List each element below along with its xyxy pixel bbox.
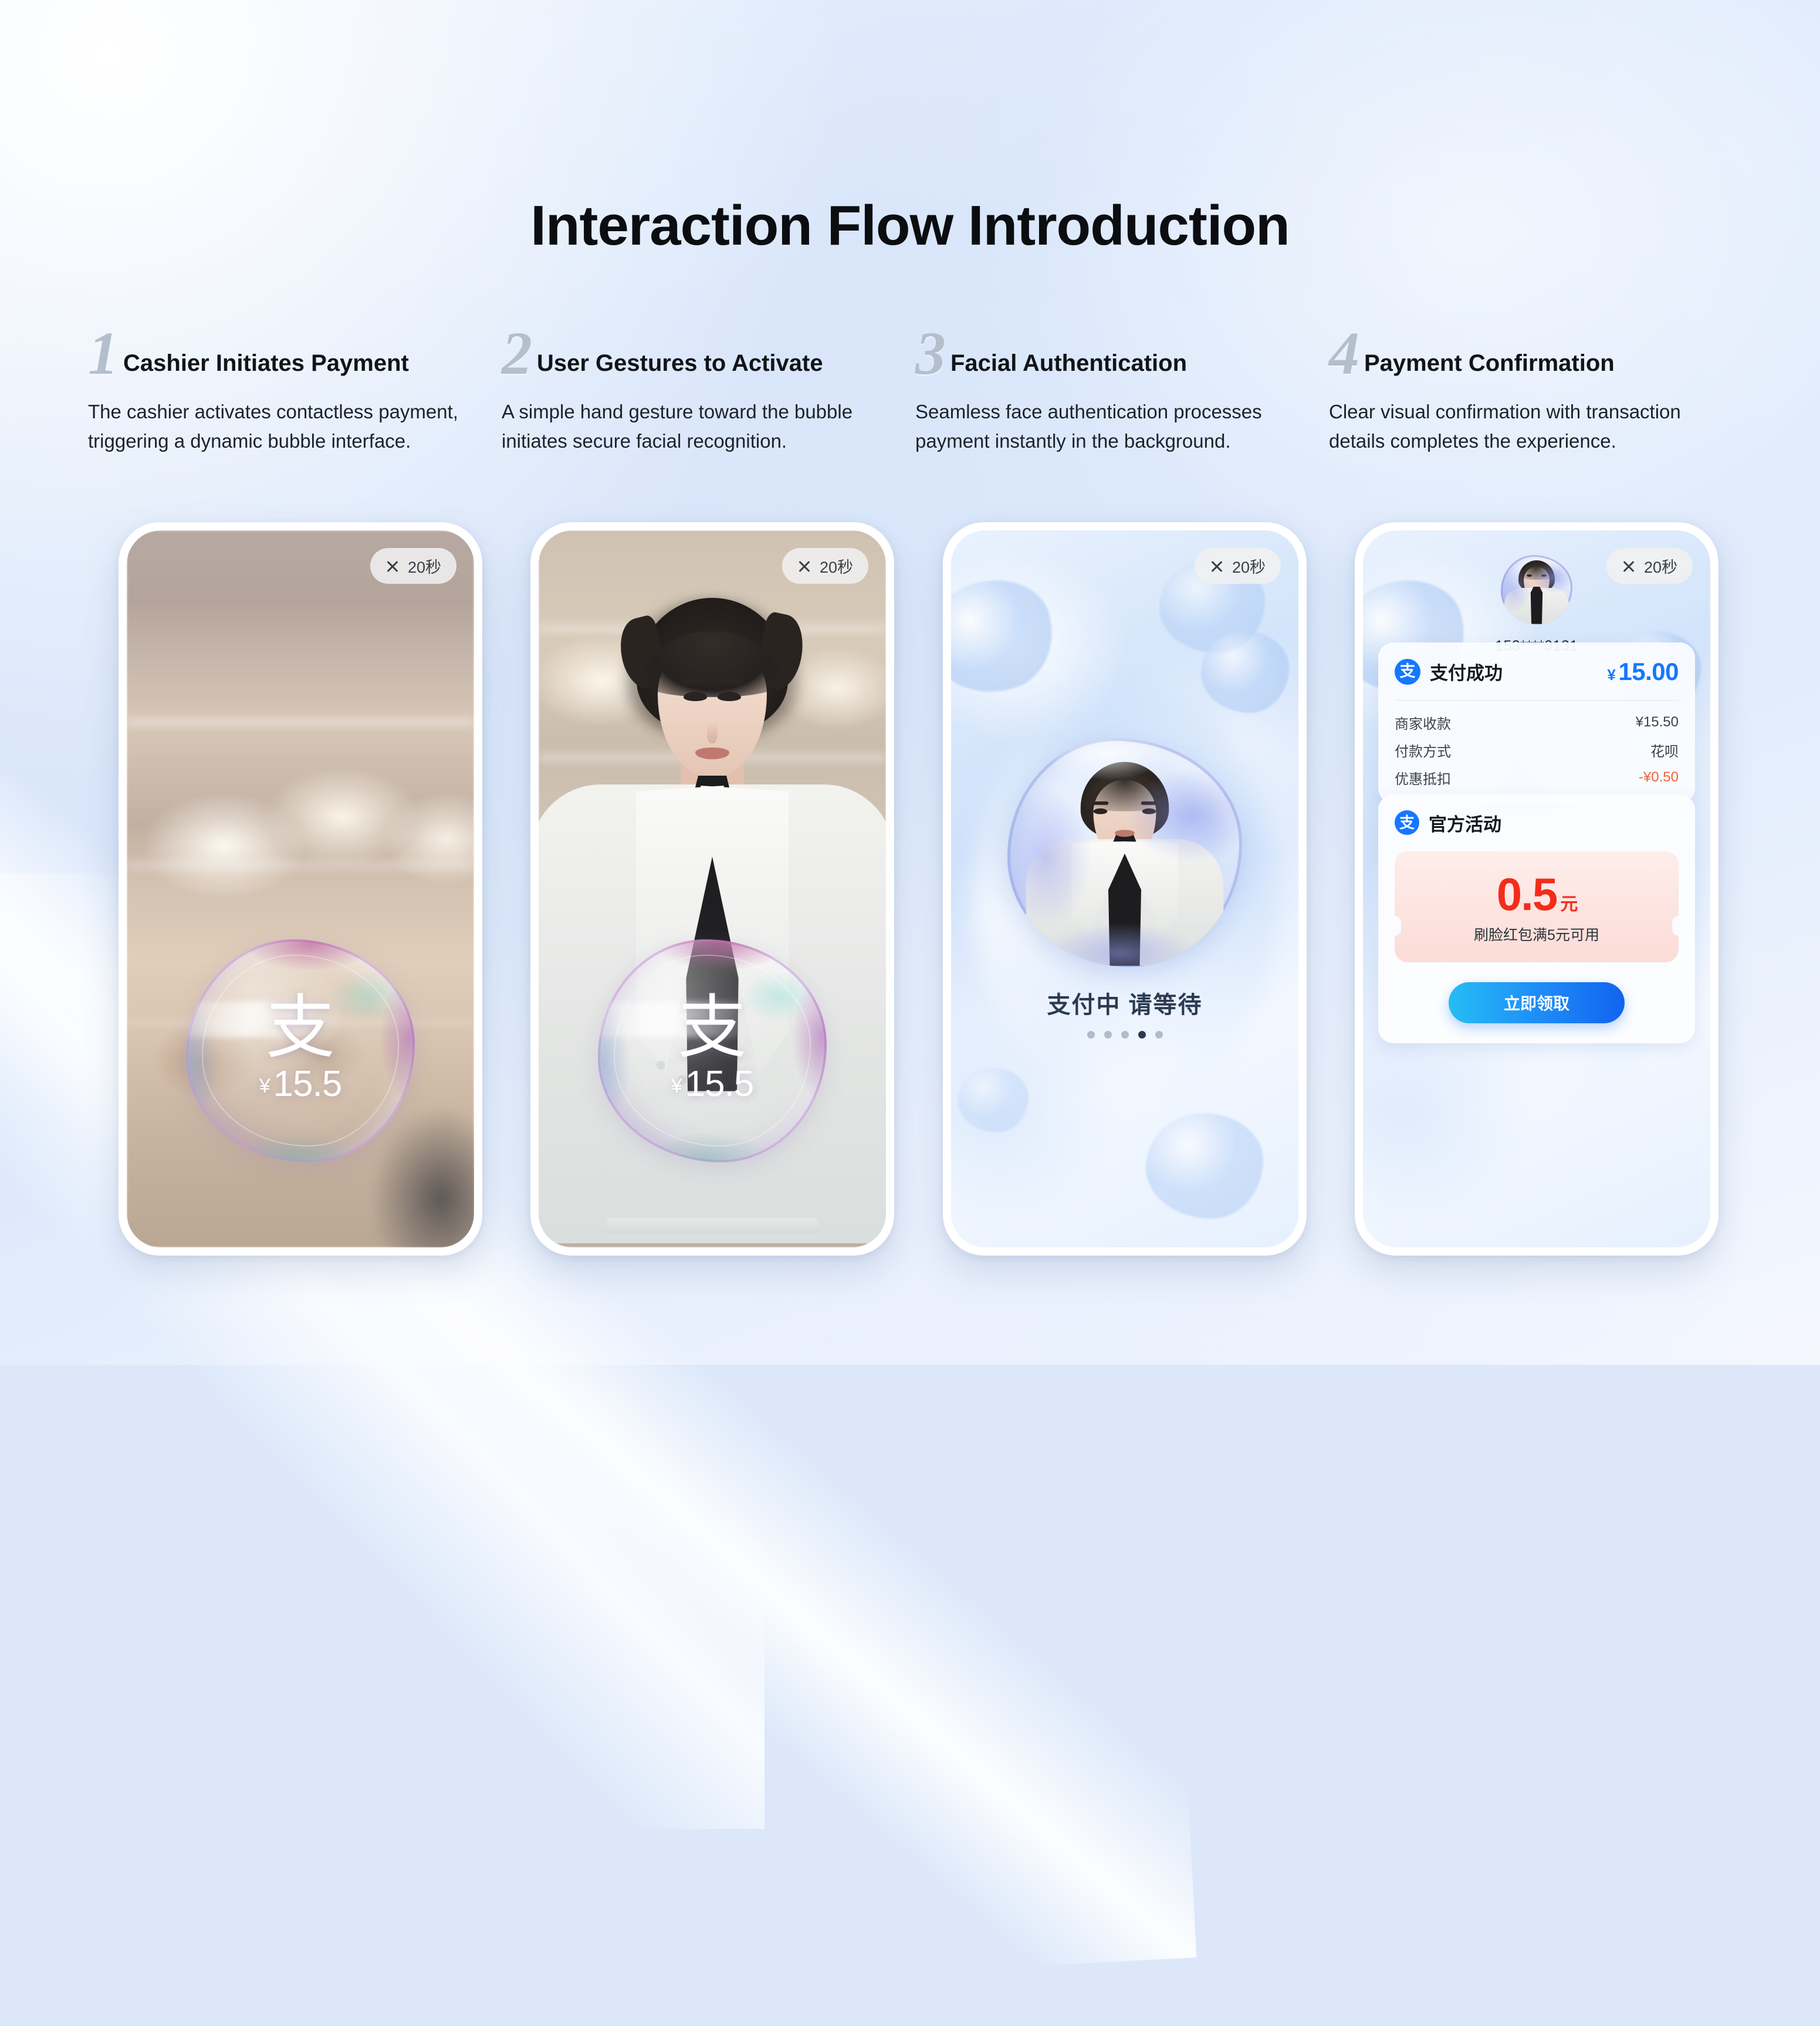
coupon-condition: 刷脸红包满5元可用: [1395, 924, 1679, 945]
alipay-logo-icon: 支: [1395, 810, 1419, 835]
coupon-ticket[interactable]: 0.5元 刷脸红包满5元可用: [1395, 851, 1679, 963]
close-x-icon[interactable]: [385, 559, 400, 573]
alipay-logo-icon: 支: [1395, 659, 1420, 685]
detail-label: 商家收款: [1395, 712, 1451, 733]
loading-dot-active: [1138, 1031, 1146, 1039]
page-title: Interaction Flow Introduction: [0, 194, 1820, 258]
phone-1-screen: 20秒 支 ¥15.5: [127, 530, 474, 1247]
store-shelf-highlight: [127, 717, 474, 726]
step-3-title: Facial Authentication: [950, 351, 1187, 377]
alipay-glyph-icon: 支: [678, 996, 747, 1060]
step-2-header: 2 User Gestures to Activate: [502, 330, 888, 377]
bubble-content: 支 ¥15.5: [598, 939, 827, 1162]
scanned-face: [1009, 739, 1241, 966]
step-4: 4 Payment Confirmation Clear visual conf…: [1329, 330, 1743, 456]
step-3-header: 3 Facial Authentication: [915, 330, 1302, 377]
close-x-icon[interactable]: [1622, 559, 1636, 573]
promotion-card: 支 官方活动 0.5元 刷脸红包满5元可用 立即领取: [1378, 794, 1695, 1044]
step-2-number: 2: [502, 330, 532, 377]
step-1-header: 1 Cashier Initiates Payment: [88, 330, 475, 377]
detail-value: 花呗: [1650, 740, 1679, 760]
promotion-card-header: 支 官方活动: [1395, 810, 1679, 836]
detail-row: 商家收款 ¥15.50: [1395, 712, 1679, 733]
phone-4-screen: 20秒 153****0131 支: [1363, 530, 1710, 1247]
store-shelf-highlight: [127, 860, 474, 871]
loading-dot: [1121, 1031, 1129, 1039]
amount-value: 15.5: [685, 1064, 754, 1104]
detail-row: 付款方式 花呗: [1395, 740, 1679, 760]
payment-status-title: 支付成功: [1430, 658, 1503, 685]
timer-label: 20秒: [408, 554, 441, 577]
loading-dots: [951, 1031, 1298, 1039]
payment-amount: ¥15.00: [1607, 658, 1679, 686]
coupon-amount-value: 0.5: [1497, 868, 1557, 920]
step-3-description: Seamless face authentication processes p…: [915, 397, 1291, 456]
phone-mockup-1: 20秒 支 ¥15.5: [119, 522, 482, 1256]
step-1-description: The cashier activates contactless paymen…: [88, 397, 464, 456]
claim-coupon-button[interactable]: 立即领取: [1449, 982, 1625, 1023]
amount-value: 15.00: [1618, 658, 1679, 685]
alipay-glyph-icon: 支: [266, 996, 335, 1060]
decorative-bubble: [1201, 631, 1289, 713]
detail-label: 优惠抵扣: [1395, 767, 1451, 788]
step-2: 2 User Gestures to Activate A simple han…: [502, 330, 915, 456]
amount-value: 15.5: [273, 1064, 342, 1104]
currency-symbol: ¥: [671, 1075, 682, 1097]
coupon-amount-unit: 元: [1560, 895, 1577, 914]
phone-3-screen: 20秒 支付中 请等待: [951, 530, 1298, 1247]
timer-label: 20秒: [1644, 554, 1677, 577]
timer-badge[interactable]: 20秒: [1195, 548, 1281, 584]
timer-badge[interactable]: 20秒: [370, 548, 456, 584]
detail-label: 付款方式: [1395, 740, 1451, 760]
detail-value-discount: -¥0.50: [1639, 769, 1679, 786]
timer-badge[interactable]: 20秒: [1606, 548, 1693, 584]
phone-mockups-row: 20秒 支 ¥15.5: [0, 522, 1820, 1250]
loading-dot: [1155, 1031, 1163, 1039]
step-4-title: Payment Confirmation: [1364, 351, 1615, 377]
step-1: 1 Cashier Initiates Payment The cashier …: [88, 330, 502, 456]
payment-bubble[interactable]: 支 ¥15.5: [186, 939, 415, 1162]
step-4-number: 4: [1329, 330, 1359, 377]
step-1-title: Cashier Initiates Payment: [123, 351, 409, 377]
loading-dot: [1104, 1031, 1112, 1039]
payment-success-card: 支 支付成功 ¥15.00 商家收款 ¥15.50 付款方式 花呗: [1378, 642, 1695, 803]
phone-mockup-2: 20秒 支 ¥15.5: [530, 522, 894, 1256]
currency-symbol: ¥: [259, 1075, 270, 1097]
step-1-number: 1: [88, 330, 119, 377]
person-coat-belt: [607, 1218, 818, 1233]
loading-dot: [1087, 1031, 1095, 1039]
currency-symbol: ¥: [1607, 666, 1615, 684]
promotion-title: 官方活动: [1429, 810, 1501, 836]
face-scan-bubble: [1007, 738, 1242, 967]
step-2-title: User Gestures to Activate: [537, 351, 823, 377]
person-eye-left: [684, 692, 707, 701]
step-3: 3 Facial Authentication Seamless face au…: [915, 330, 1329, 456]
card-divider: [1395, 700, 1679, 701]
coupon-amount: 0.5元: [1395, 874, 1679, 916]
timer-label: 20秒: [820, 554, 853, 577]
person-eye-right: [718, 692, 741, 701]
person-eyebrow-right: [1141, 802, 1158, 806]
detail-value: ¥15.50: [1636, 714, 1679, 730]
payment-status-text: 支付中 请等待: [951, 986, 1298, 1020]
avatar-bubble-film: [1501, 555, 1572, 624]
steps-row: 1 Cashier Initiates Payment The cashier …: [88, 330, 1743, 456]
bubble-content: 支 ¥15.5: [186, 939, 415, 1162]
payment-bubble[interactable]: 支 ¥15.5: [598, 939, 827, 1162]
phone-2-screen: 20秒 支 ¥15.5: [539, 530, 886, 1247]
avatar: [1501, 555, 1572, 624]
close-x-icon[interactable]: [1210, 559, 1224, 573]
phone-mockup-3: 20秒 支付中 请等待: [943, 522, 1307, 1256]
bubble-amount: ¥15.5: [671, 1063, 754, 1105]
person-nose: [707, 721, 718, 743]
close-x-icon[interactable]: [797, 559, 811, 573]
bubble-amount: ¥15.5: [259, 1063, 342, 1105]
timer-label: 20秒: [1232, 554, 1266, 577]
phone-mockup-4: 20秒 153****0131 支: [1355, 522, 1718, 1256]
step-2-description: A simple hand gesture toward the bubble …: [502, 397, 877, 456]
detail-row: 优惠抵扣 -¥0.50: [1395, 767, 1679, 788]
step-3-number: 3: [915, 330, 946, 377]
step-4-header: 4 Payment Confirmation: [1329, 330, 1716, 377]
person-eyebrow-left: [1092, 802, 1109, 806]
step-4-description: Clear visual confirmation with transacti…: [1329, 397, 1681, 456]
payment-card-header: 支 支付成功 ¥15.00: [1395, 658, 1679, 686]
payment-card-title-group: 支 支付成功: [1395, 658, 1503, 685]
timer-badge[interactable]: 20秒: [782, 548, 868, 584]
